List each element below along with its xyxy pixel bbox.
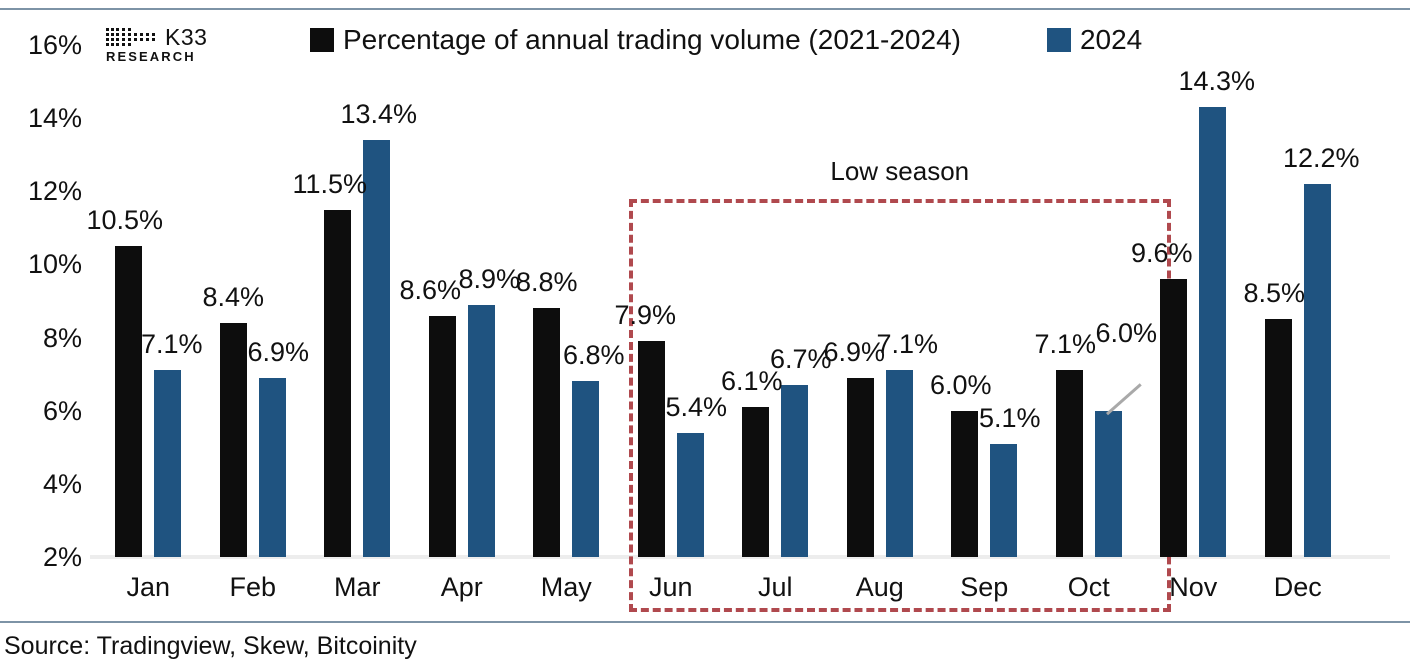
- x-axis-label-jul: Jul: [720, 572, 830, 602]
- chart-plot-area: 16%14%12%10%8%6%4%2% Low season 10.5%7.1…: [0, 0, 1410, 600]
- x-axis-label-oct: Oct: [1034, 572, 1144, 602]
- footer-divider: [0, 621, 1410, 623]
- x-axis-label-may: May: [511, 572, 621, 602]
- x-axis-label-nov: Nov: [1138, 572, 1248, 602]
- source-note: Source: Tradingview, Skew, Bitcoinity: [4, 629, 417, 663]
- x-axis-label-aug: Aug: [825, 572, 935, 602]
- x-axis-label-mar: Mar: [302, 572, 412, 602]
- x-axis-label-dec: Dec: [1243, 572, 1353, 602]
- x-axis-label-jan: Jan: [93, 572, 203, 602]
- x-axis-label-feb: Feb: [198, 572, 308, 602]
- x-axis-label-sep: Sep: [929, 572, 1039, 602]
- x-axis-label-apr: Apr: [407, 572, 517, 602]
- x-axis-label-jun: Jun: [616, 572, 726, 602]
- x-axis-labels: JanFebMarAprMayJunJulAugSepOctNovDec: [0, 0, 1410, 600]
